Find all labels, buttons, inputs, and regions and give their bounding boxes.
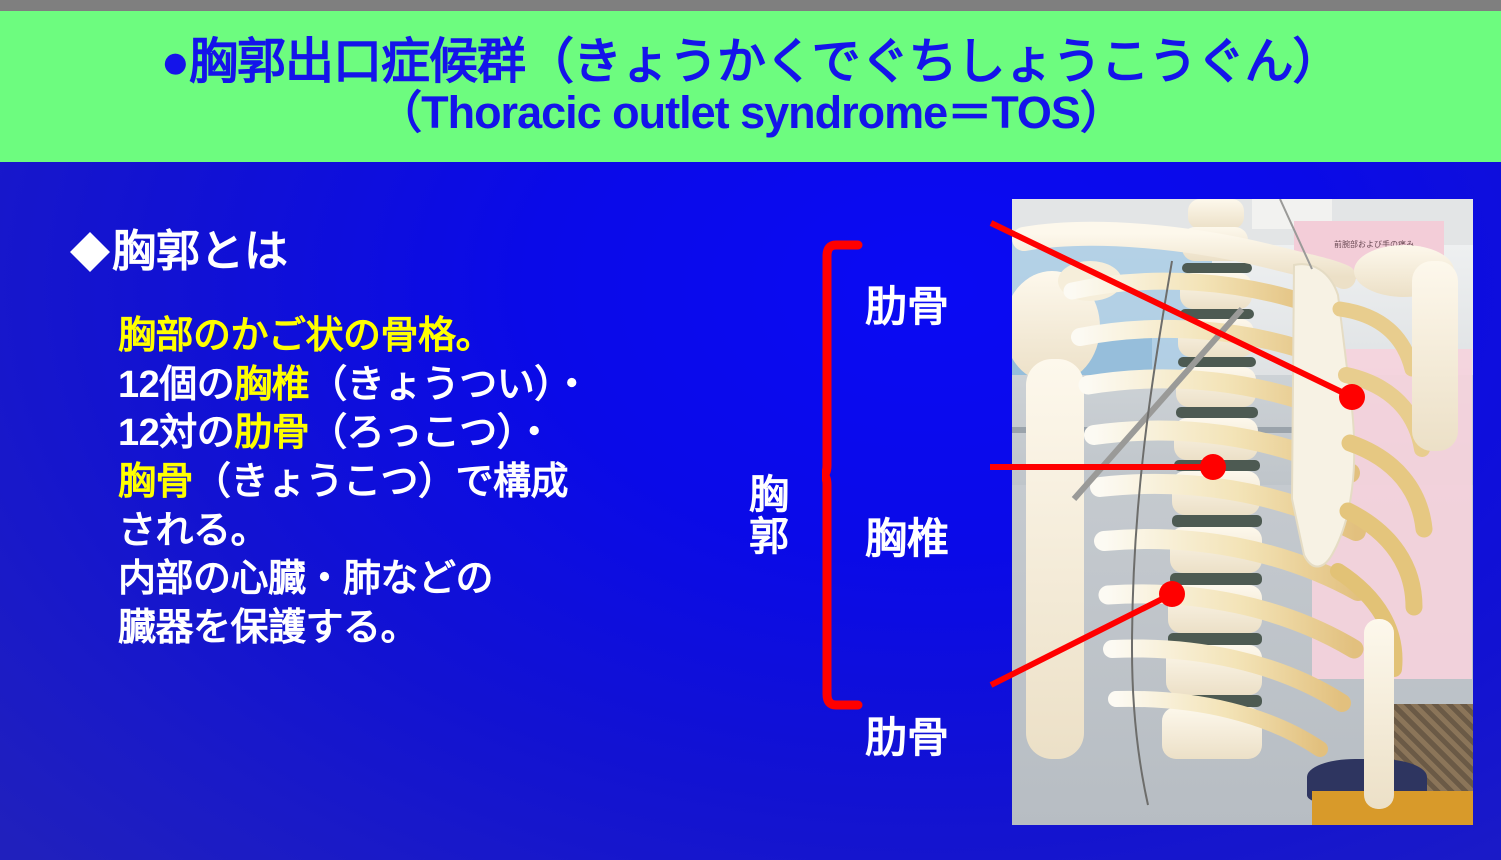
callout-label-thorax: 胸郭 bbox=[740, 474, 798, 558]
body-line: される。 bbox=[118, 507, 702, 556]
slide-title-line1: ●胸郭出口症候群（きょうかくでぐちしょうこうぐん） bbox=[160, 36, 1340, 89]
body-span: （きょうつい）・ bbox=[309, 364, 590, 406]
body-line: 胸部のかご状の骨格。 bbox=[118, 312, 702, 361]
body-line: 胸骨（きょうこつ）で構成 bbox=[118, 458, 702, 507]
callout-label-rib-upper: 肋骨 bbox=[865, 273, 949, 334]
body-line: 12個の胸椎（きょうつい）・ bbox=[118, 361, 702, 410]
body-line: 12対の肋骨（ろっこつ）・ bbox=[118, 409, 702, 458]
body-span-highlight: 胸骨 bbox=[118, 461, 193, 503]
slide-body: 胸郭とは 胸部のかご状の骨格。 12個の胸椎（きょうつい）・ 12対の肋骨（ろっ… bbox=[0, 162, 1501, 860]
slide-title-line2: （Thoracic outlet syndrome＝TOS） bbox=[377, 89, 1124, 138]
right-arm-lower bbox=[1364, 619, 1394, 809]
body-span-highlight: 肋骨 bbox=[234, 412, 309, 454]
body-line: 内部の心臓・肺などの bbox=[118, 555, 702, 604]
body-span: （きょうこつ）で構成 bbox=[193, 461, 568, 503]
body-span-highlight: 胸椎 bbox=[234, 364, 309, 406]
right-humerus bbox=[1412, 261, 1458, 451]
body-span: （ろっこつ）・ bbox=[309, 412, 553, 454]
callout-label-rib-lower: 肋骨 bbox=[865, 704, 949, 765]
body-span: 内部の心臓・肺などの bbox=[118, 558, 493, 600]
title-banner: ●胸郭出口症候群（きょうかくでぐちしょうこうぐん） （Thoracic outl… bbox=[0, 11, 1501, 162]
body-span: 12対の bbox=[118, 412, 234, 454]
skeleton-model-illustration bbox=[1012, 199, 1473, 825]
humerus bbox=[1026, 359, 1084, 759]
body-line: 臓器を保護する。 bbox=[118, 604, 702, 653]
diamond-bullet-icon bbox=[70, 212, 110, 252]
callout-group: 胸郭 肋骨 胸椎 肋骨 bbox=[740, 222, 1000, 742]
left-text-column: 胸郭とは 胸部のかご状の骨格。 12個の胸椎（きょうつい）・ 12対の肋骨（ろっ… bbox=[62, 230, 702, 652]
body-span: 臓器を保護する。 bbox=[118, 607, 418, 649]
section-heading: 胸郭とは bbox=[70, 230, 702, 274]
callout-label-thoracic-vertebra: 胸椎 bbox=[865, 505, 949, 566]
body-paragraph: 胸部のかご状の骨格。 12個の胸椎（きょうつい）・ 12対の肋骨（ろっこつ）・ … bbox=[118, 312, 702, 652]
body-span: 12個の bbox=[118, 364, 234, 406]
body-span: される。 bbox=[118, 510, 268, 552]
skeleton-photo: 前腕部および手の痛み bbox=[1012, 199, 1473, 825]
section-heading-label: 胸郭とは bbox=[112, 230, 288, 274]
slide: ●胸郭出口症候群（きょうかくでぐちしょうこうぐん） （Thoracic outl… bbox=[0, 0, 1501, 860]
body-span-highlight: 胸部のかご状の骨格。 bbox=[118, 315, 493, 357]
red-brace-icon bbox=[822, 240, 864, 710]
